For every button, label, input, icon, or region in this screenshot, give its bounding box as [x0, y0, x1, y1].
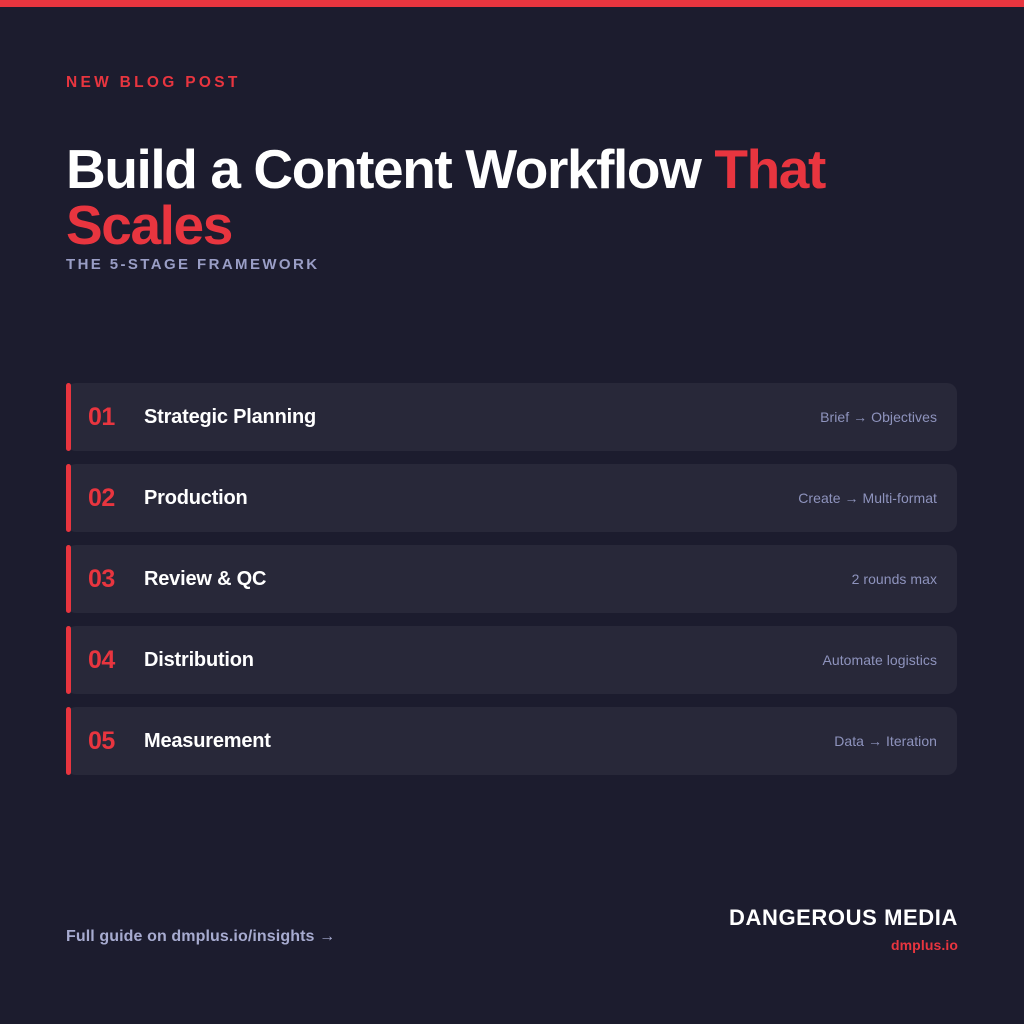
brand-name: DANGEROUS MEDIA — [729, 905, 958, 931]
stage-meta: Data → Iteration — [834, 733, 937, 749]
stage-accent-bar — [66, 626, 71, 694]
stage-accent-bar — [66, 707, 71, 775]
poster-content: NEW BLOG POST Build a Content Workflow T… — [0, 0, 1024, 1024]
stage-meta: Automate logistics — [822, 652, 937, 668]
brand-url[interactable]: dmplus.io — [729, 937, 958, 953]
stage-title: Strategic Planning — [144, 406, 820, 429]
stage-meta: 2 rounds max — [852, 571, 937, 587]
stage-number: 01 — [88, 403, 144, 432]
eyebrow-label: NEW BLOG POST — [66, 74, 241, 92]
stage-title: Measurement — [144, 730, 834, 753]
page-title: Build a Content Workflow That Scales — [66, 141, 946, 253]
stage-title: Review & QC — [144, 568, 852, 591]
list-item[interactable]: 01 Strategic Planning Brief → Objectives — [66, 383, 957, 451]
brand-lockup: DANGEROUS MEDIA dmplus.io — [729, 905, 958, 953]
headline-main-text: Build a Content Workflow — [66, 138, 714, 200]
stage-accent-bar — [66, 383, 71, 451]
list-item[interactable]: 03 Review & QC 2 rounds max — [66, 545, 957, 613]
stage-number: 04 — [88, 646, 144, 675]
stage-number: 05 — [88, 727, 144, 756]
stage-meta: Create → Multi-format — [798, 490, 937, 506]
stage-number: 03 — [88, 565, 144, 594]
list-item[interactable]: 05 Measurement Data → Iteration — [66, 707, 957, 775]
stage-title: Production — [144, 487, 798, 510]
list-item[interactable]: 04 Distribution Automate logistics — [66, 626, 957, 694]
stage-accent-bar — [66, 464, 71, 532]
subheading-label: THE 5-STAGE FRAMEWORK — [66, 256, 319, 273]
list-item[interactable]: 02 Production Create → Multi-format — [66, 464, 957, 532]
poster-canvas: NEW BLOG POST Build a Content Workflow T… — [0, 0, 1024, 1024]
stage-title: Distribution — [144, 649, 822, 672]
footer-guide-link[interactable]: Full guide on dmplus.io/insights → — [66, 928, 335, 946]
stage-number: 02 — [88, 484, 144, 513]
stage-meta: Brief → Objectives — [820, 409, 937, 425]
stage-list: 01 Strategic Planning Brief → Objectives… — [66, 383, 957, 775]
stage-accent-bar — [66, 545, 71, 613]
